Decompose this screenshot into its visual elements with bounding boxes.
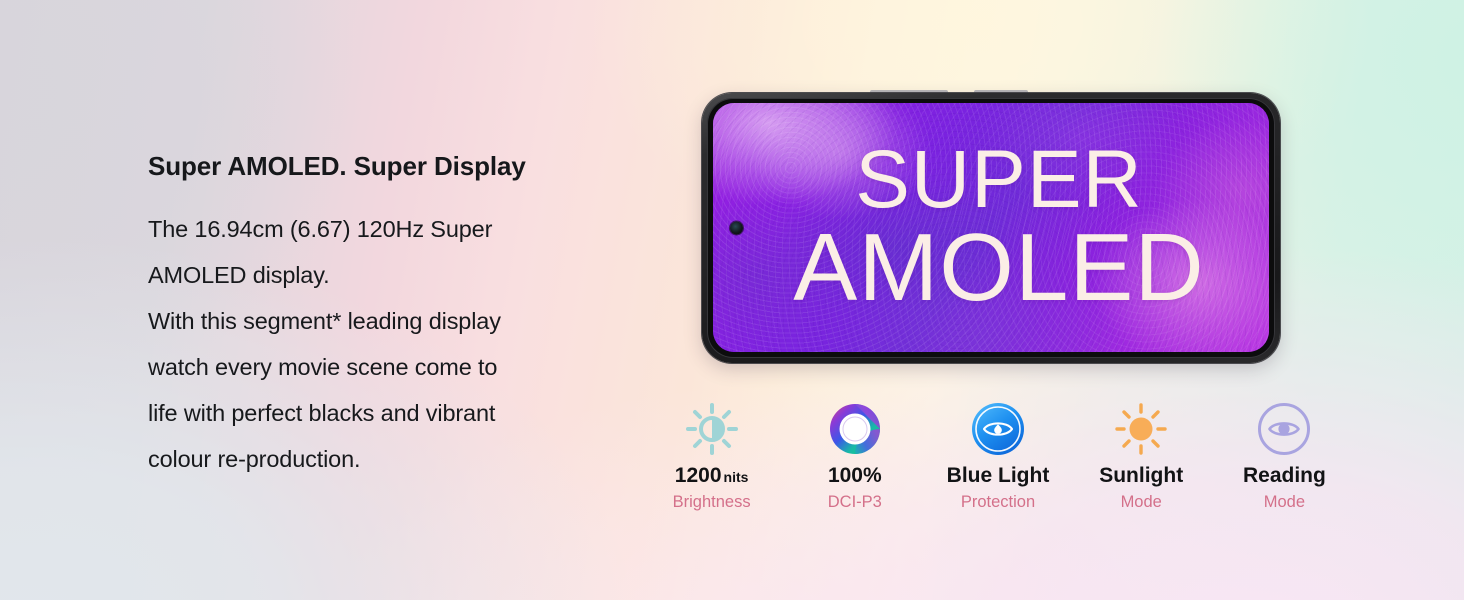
paragraph-line: The 16.94cm (6.67) 120Hz Super bbox=[148, 206, 648, 252]
feature-item-reading: Reading Mode bbox=[1213, 398, 1356, 513]
front-camera-icon bbox=[730, 221, 743, 234]
feature-value: Reading bbox=[1243, 464, 1326, 487]
blue-light-eye-icon bbox=[970, 398, 1026, 460]
feature-value: Blue Light bbox=[947, 464, 1050, 487]
feature-subtitle: Mode bbox=[1264, 493, 1305, 513]
feature-unit: nits bbox=[724, 469, 749, 485]
paragraph-line: AMOLED display. bbox=[148, 252, 648, 298]
screen-headline-line1: SUPER bbox=[855, 141, 1143, 220]
feature-list: 1200nits Brightness bbox=[640, 398, 1356, 513]
phone-screen: SUPER AMOLED bbox=[713, 103, 1269, 352]
sun-icon bbox=[1112, 398, 1170, 460]
feature-value: 100% bbox=[828, 464, 882, 487]
feature-subtitle: Protection bbox=[961, 493, 1035, 513]
feature-title: 100% bbox=[828, 464, 882, 487]
feature-title: Blue Light bbox=[947, 464, 1050, 487]
feature-subtitle: Brightness bbox=[673, 493, 751, 513]
feature-subtitle: Mode bbox=[1121, 493, 1162, 513]
paragraph-line: life with perfect blacks and vibrant bbox=[148, 390, 648, 436]
screen-headline: SUPER AMOLED bbox=[713, 103, 1269, 352]
feature-title: Reading bbox=[1243, 464, 1326, 487]
feature-item-blue-light: Blue Light Protection bbox=[926, 398, 1069, 513]
product-feature-banner: Super AMOLED. Super Display The 16.94cm … bbox=[0, 0, 1464, 600]
feature-item-dci-p3: 100% DCI-P3 bbox=[783, 398, 926, 513]
paragraph-line: colour re-production. bbox=[148, 436, 648, 482]
description-paragraph: The 16.94cm (6.67) 120Hz Super AMOLED di… bbox=[148, 206, 648, 482]
reading-eye-icon bbox=[1256, 398, 1312, 460]
feature-item-brightness: 1200nits Brightness bbox=[640, 398, 783, 513]
screen-headline-line2: AMOLED bbox=[793, 222, 1204, 314]
feature-title: Sunlight bbox=[1099, 464, 1183, 487]
paragraph-line: watch every movie scene come to bbox=[148, 344, 648, 390]
page-title: Super AMOLED. Super Display bbox=[148, 152, 648, 182]
feature-item-sunlight: Sunlight Mode bbox=[1070, 398, 1213, 513]
color-gamut-wheel-icon bbox=[826, 398, 884, 460]
phone-mockup: SUPER AMOLED bbox=[702, 93, 1280, 363]
feature-title: 1200nits bbox=[675, 464, 749, 487]
brightness-icon bbox=[682, 398, 742, 460]
feature-subtitle: DCI-P3 bbox=[828, 493, 882, 513]
paragraph-line: With this segment* leading display bbox=[148, 298, 648, 344]
feature-value: 1200 bbox=[675, 464, 722, 487]
copy-block: Super AMOLED. Super Display The 16.94cm … bbox=[148, 152, 648, 482]
feature-value: Sunlight bbox=[1099, 464, 1183, 487]
